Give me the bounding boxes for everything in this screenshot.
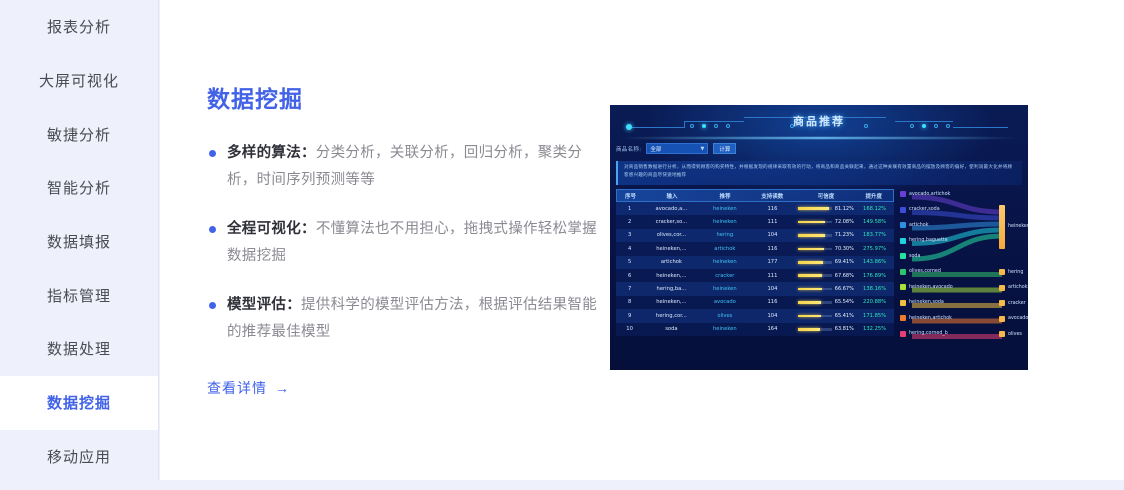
cell-index: 2 [616, 219, 643, 225]
calculate-button[interactable]: 计算 [713, 143, 736, 154]
cell-index: 6 [616, 273, 643, 279]
table-body: 1avocado,a...heineken11681.12%168.12%2cr… [616, 202, 894, 336]
sankey-node-swatch [999, 300, 1005, 306]
cell-lift: 138.16% [855, 286, 894, 292]
cell-confidence: 69.41% [795, 259, 855, 265]
sankey-node-label: avocado,artichok [909, 192, 950, 197]
cell-confidence: 66.67% [795, 286, 855, 292]
confidence-bar-track [798, 328, 832, 331]
table-row[interactable]: 10sodaheineken16463.81%132.25% [616, 323, 894, 336]
confidence-bar-fill [798, 328, 820, 331]
confidence-bar-fill [798, 274, 822, 277]
feature-bullet-1: 全程可视化：不懂算法也不用担心，拖拽式操作轻松掌握数据挖掘 [207, 216, 607, 270]
sankey-node-label: avocado [1008, 316, 1028, 321]
cell-lift: 176.89% [855, 273, 894, 279]
sankey-node-swatch [999, 269, 1005, 275]
table-row[interactable]: 3olives,cor...hering10471.23%183.77% [616, 229, 894, 242]
sankey-node-label: hering [1008, 270, 1023, 275]
confidence-value: 63.81% [835, 326, 854, 332]
cell-input: avocado,a... [643, 206, 699, 212]
bullet-term: 多样的算法： [227, 145, 316, 161]
cell-lift: 183.77% [855, 232, 894, 238]
table-header-row: 序号输入推荐支持读数可信度提升度 [616, 189, 894, 202]
product-name-select[interactable]: 全部 ▼ [646, 143, 708, 154]
recommendation-table: 序号输入推荐支持读数可信度提升度 1avocado,a...heineken11… [616, 189, 894, 336]
cell-confidence: 70.30% [795, 246, 855, 252]
sankey-diagram: heinekenavocado,artichokcracker,sodaarti… [898, 189, 1024, 361]
sidebar-item-label: 报表分析 [47, 16, 111, 37]
sankey-right-node-heineken-bar [999, 205, 1005, 249]
sankey-left-node: heineken,soda [900, 300, 944, 306]
cell-lift: 149.58% [855, 219, 894, 225]
sankey-node-swatch [900, 253, 906, 259]
sidebar-item-8[interactable]: 移动应用 [0, 430, 158, 484]
table-row[interactable]: 5artichokheineken17769.41%143.86% [616, 256, 894, 269]
confidence-bar-fill [798, 248, 824, 251]
confidence-value: 65.54% [835, 299, 854, 305]
table-row[interactable]: 4heineken,...artichok11670.30%275.97% [616, 242, 894, 255]
cell-recommendation: heineken [700, 286, 751, 292]
confidence-value: 71.23% [835, 232, 854, 238]
sankey-right-node: avocado [999, 316, 1028, 322]
cell-index: 10 [616, 326, 643, 332]
cell-input: soda [643, 326, 699, 332]
dashboard-preview-image: 商品推荐 商品名称: 全部 ▼ 计算 对商品销售数据进行分析，从而得到顾客的购买… [610, 105, 1028, 370]
sankey-node-label: cracker [1008, 301, 1026, 306]
confidence-bar-fill [798, 234, 825, 237]
sidebar-item-label: 敏捷分析 [47, 124, 111, 145]
sankey-right-node-label: heineken [1008, 224, 1028, 229]
cell-support: 116 [750, 299, 795, 305]
cell-recommendation: avocado [700, 299, 751, 305]
cell-input: heineken,... [643, 246, 699, 252]
table-column-header: 支持读数 [750, 192, 794, 200]
cell-input: hering,ba... [643, 286, 699, 292]
sankey-node-label: cracker,soda [909, 207, 940, 212]
sankey-node-swatch [900, 331, 906, 337]
sankey-node-label: heineken,avocado [909, 285, 953, 290]
cell-confidence: 63.81% [795, 326, 855, 332]
cell-support: 177 [750, 259, 795, 265]
feature-description-block: 数据挖掘 多样的算法：分类分析，关联分析，回归分析，聚类分析，时间序列预测等等全… [207, 80, 607, 398]
cell-recommendation: heineken [700, 326, 751, 332]
confidence-bar-fill [798, 288, 822, 291]
sankey-left-node: heineken,avocado [900, 284, 953, 290]
sidebar-item-2[interactable]: 敏捷分析 [0, 107, 158, 161]
cell-recommendation: heineken [700, 206, 751, 212]
table-column-header: 提升度 [854, 192, 893, 200]
cell-support: 116 [750, 206, 795, 212]
confidence-bar-fill [798, 221, 825, 224]
sankey-node-swatch [999, 285, 1005, 291]
sankey-node-label: soda [909, 254, 920, 259]
cell-support: 116 [750, 246, 795, 252]
sankey-node-swatch [900, 269, 906, 275]
header-glow-line [618, 137, 1020, 139]
product-name-select-value: 全部 [650, 145, 661, 153]
cell-index: 5 [616, 259, 643, 265]
sankey-node-label: heineken,soda [909, 300, 944, 305]
cell-index: 8 [616, 299, 643, 305]
cell-support: 164 [750, 326, 795, 332]
cell-recommendation: cracker [700, 273, 751, 279]
sankey-node-label: olives,corned [909, 269, 941, 274]
sankey-left-node: olives,corned [900, 269, 941, 275]
cell-lift: 168.12% [855, 206, 894, 212]
confidence-value: 65.41% [835, 313, 854, 319]
sankey-node-swatch [999, 331, 1005, 337]
sankey-right-node: hering [999, 269, 1023, 275]
sankey-node-swatch [900, 207, 906, 213]
sidebar-item-4[interactable]: 数据填报 [0, 215, 158, 269]
cell-index: 9 [616, 313, 643, 319]
sankey-left-node: avocado,artichok [900, 191, 950, 197]
sidebar-item-7[interactable]: 数据挖掘 [0, 376, 158, 430]
cell-recommendation: heineken [700, 259, 751, 265]
cell-support: 104 [750, 232, 795, 238]
sankey-right-node: artichok [999, 285, 1028, 291]
sankey-node-swatch [900, 300, 906, 306]
confidence-value: 72.08% [835, 219, 854, 225]
table-column-header: 可信度 [795, 192, 855, 200]
sidebar-item-label: 数据填报 [47, 231, 111, 252]
table-row[interactable]: 1avocado,a...heineken11681.12%168.12% [616, 202, 894, 215]
sidebar-item-1[interactable]: 大屏可视化 [0, 54, 158, 108]
cell-lift: 143.86% [855, 259, 894, 265]
sankey-node-label: heineken,artichok [909, 316, 952, 321]
cell-lift: 275.97% [855, 246, 894, 252]
page-title: 数据挖掘 [207, 80, 607, 114]
cell-recommendation: olives [700, 313, 751, 319]
sankey-left-node: artichok [900, 222, 929, 228]
table-column-header: 序号 [617, 192, 644, 200]
confidence-bar-fill [798, 207, 829, 210]
sidebar-item-label: 移动应用 [47, 446, 111, 467]
cell-confidence: 81.12% [795, 206, 855, 212]
sankey-node-swatch [900, 191, 906, 197]
confidence-value: 69.41% [835, 259, 854, 265]
sidebar-item-label: 数据挖掘 [47, 392, 111, 413]
sidebar-nav: 报表分析大屏可视化敏捷分析智能分析数据填报指标管理数据处理数据挖掘移动应用 [0, 0, 159, 480]
confidence-value: 67.68% [835, 273, 854, 279]
bullet-term: 模型评估： [227, 297, 301, 313]
cell-support: 104 [750, 313, 795, 319]
sankey-node-swatch [900, 284, 906, 290]
confidence-bar-track [798, 274, 832, 277]
sankey-node-swatch [900, 222, 906, 228]
cell-input: heineken,... [643, 273, 699, 279]
cell-support: 104 [750, 286, 795, 292]
cell-input: heineken,... [643, 299, 699, 305]
table-row[interactable]: 9hering,cor...olives10465.41%171.85% [616, 309, 894, 322]
cell-recommendation: hering [700, 232, 751, 238]
confidence-bar-fill [798, 315, 821, 318]
table-row[interactable]: 8heineken,...avocado11665.54%220.88% [616, 296, 894, 309]
sidebar-item-label: 指标管理 [47, 285, 111, 306]
feature-bullet-2: 模型评估：提供科学的模型评估方法，根据评估结果智能的推荐最佳模型 [207, 292, 607, 346]
confidence-bar-track [798, 234, 832, 237]
bullet-term: 全程可视化： [227, 221, 316, 237]
sankey-left-node: cracker,soda [900, 207, 940, 213]
confidence-bar-fill [798, 301, 821, 304]
sankey-node-label: artichok [1008, 285, 1028, 290]
page-bottom-strip [0, 480, 1124, 490]
sidebar-item-label: 数据处理 [47, 338, 111, 359]
sidebar-item-0[interactable]: 报表分析 [0, 0, 158, 54]
view-details-link[interactable]: 查看详情→ [207, 378, 290, 398]
sankey-node-swatch [900, 238, 906, 244]
confidence-bar-track [798, 315, 832, 318]
sankey-node-label: hering,corned_b [909, 331, 948, 336]
filter-label: 商品名称: [616, 145, 641, 153]
sankey-left-node: hering,corned_b [900, 331, 948, 337]
cell-recommendation: heineken [700, 219, 751, 225]
cell-lift: 132.25% [855, 326, 894, 332]
sankey-left-node: hering,baguette [900, 238, 948, 244]
confidence-value: 66.67% [835, 286, 854, 292]
cell-input: cracker,so... [643, 219, 699, 225]
table-column-header: 输入 [644, 192, 700, 200]
sidebar-item-5[interactable]: 指标管理 [0, 268, 158, 322]
cell-confidence: 65.41% [795, 313, 855, 319]
confidence-bar-track [798, 248, 832, 251]
table-column-header: 推荐 [700, 192, 750, 200]
table-row[interactable]: 2cracker,so...heineken11172.08%149.58% [616, 215, 894, 228]
table-row[interactable]: 7hering,ba...heineken10466.67%138.16% [616, 282, 894, 295]
cell-index: 3 [616, 232, 643, 238]
confidence-bar-track [798, 207, 832, 210]
cell-confidence: 71.23% [795, 232, 855, 238]
cell-confidence: 67.68% [795, 273, 855, 279]
confidence-value: 70.30% [835, 246, 854, 252]
page-root: 报表分析大屏可视化敏捷分析智能分析数据填报指标管理数据处理数据挖掘移动应用 数据… [0, 0, 1124, 490]
cell-confidence: 72.08% [795, 219, 855, 225]
cell-index: 4 [616, 246, 643, 252]
main-panel: 数据挖掘 多样的算法：分类分析，关联分析，回归分析，聚类分析，时间序列预测等等全… [160, 0, 1124, 480]
cell-confidence: 65.54% [795, 299, 855, 305]
dashboard-header-decoration: 商品推荐 [610, 105, 1028, 139]
sidebar-item-label: 大屏可视化 [39, 70, 119, 91]
cell-input: artichok [643, 259, 699, 265]
view-details-label: 查看详情 [207, 380, 267, 396]
cell-support: 111 [750, 273, 795, 279]
sankey-right-node: olives [999, 331, 1022, 337]
table-row[interactable]: 6heineken,...cracker11167.68%176.89% [616, 269, 894, 282]
confidence-bar-track [798, 288, 832, 291]
confidence-bar-track [798, 301, 832, 304]
dashboard-title: 商品推荐 [610, 113, 1028, 129]
cell-input: olives,cor... [643, 232, 699, 238]
feature-bullet-list: 多样的算法：分类分析，关联分析，回归分析，聚类分析，时间序列预测等等全程可视化：… [207, 140, 607, 346]
cell-support: 111 [750, 219, 795, 225]
confidence-bar-fill [798, 261, 824, 264]
confidence-bar-track [798, 221, 832, 224]
cell-index: 1 [616, 206, 643, 212]
cell-lift: 171.85% [855, 313, 894, 319]
sankey-node-swatch [999, 316, 1005, 322]
cell-input: hering,cor... [643, 313, 699, 319]
dashboard-filter-bar: 商品名称: 全部 ▼ 计算 [616, 143, 736, 154]
sankey-left-node: heineken,artichok [900, 315, 952, 321]
sankey-node-label: artichok [909, 223, 929, 228]
sankey-node-label: olives [1008, 332, 1022, 337]
cell-index: 7 [616, 286, 643, 292]
sankey-node-label: hering,baguette [909, 238, 948, 243]
sankey-node-swatch [900, 315, 906, 321]
sidebar-item-label: 智能分析 [47, 177, 111, 198]
dashboard-description-banner: 对商品销售数据进行分析，从而得到顾客的购买特性，并根据发现的规律采取有效的行动，… [616, 161, 1022, 185]
confidence-value: 81.12% [835, 206, 854, 212]
feature-bullet-0: 多样的算法：分类分析，关联分析，回归分析，聚类分析，时间序列预测等等 [207, 140, 607, 194]
cell-recommendation: artichok [700, 246, 751, 252]
sankey-left-node: soda [900, 253, 920, 259]
sidebar-item-6[interactable]: 数据处理 [0, 322, 158, 376]
chevron-down-icon: ▼ [701, 146, 705, 152]
cell-lift: 220.88% [855, 299, 894, 305]
arrow-right-icon: → [275, 380, 290, 396]
sankey-right-node: cracker [999, 300, 1026, 306]
sidebar-item-3[interactable]: 智能分析 [0, 161, 158, 215]
confidence-bar-track [798, 261, 832, 264]
